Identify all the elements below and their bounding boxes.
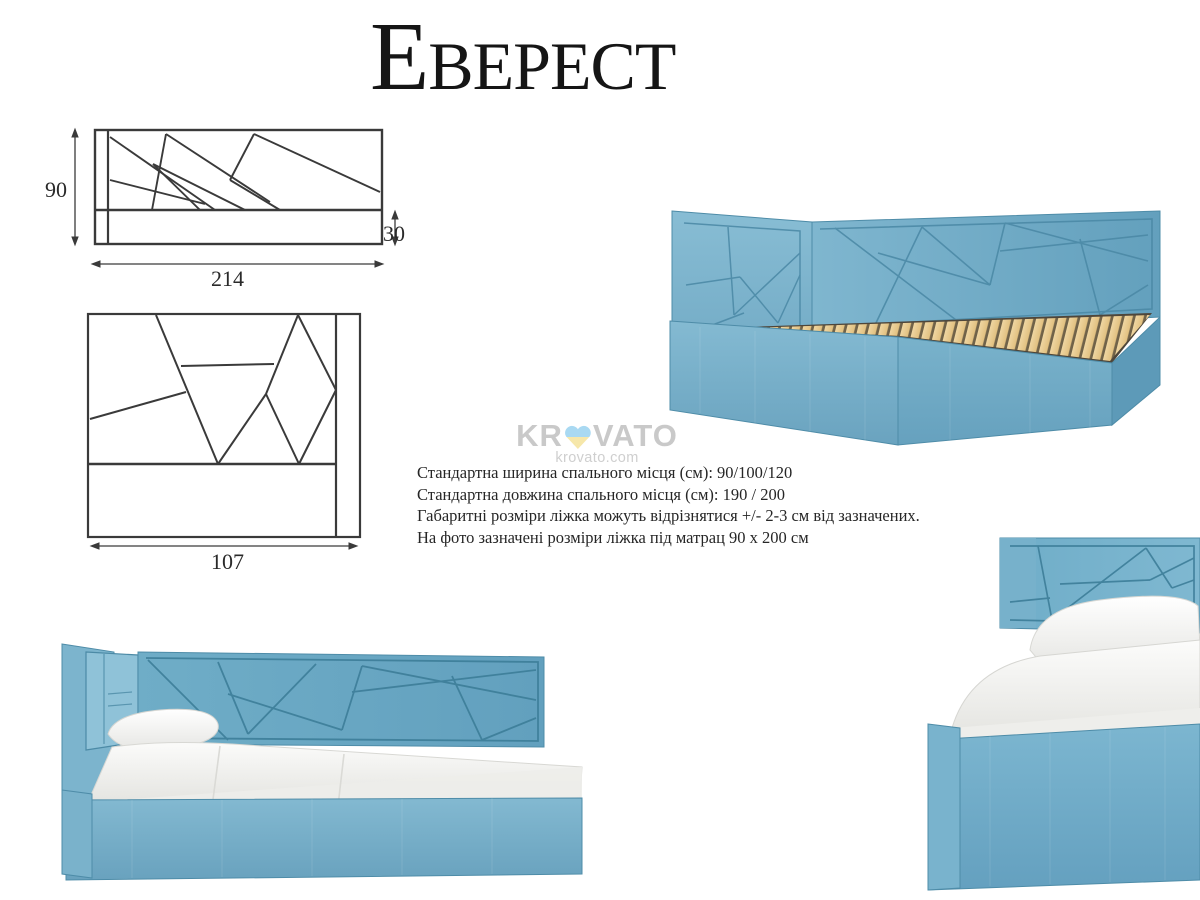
- side-view-height-label: 90: [45, 177, 67, 203]
- watermark-brand-left: KR: [516, 420, 563, 452]
- side-view-length-label: 214: [211, 266, 244, 292]
- bed-photo-closeup-right: [900, 528, 1200, 900]
- front-view-width-label: 107: [211, 549, 244, 575]
- spec-line-photo-size: На фото зазначені розміри ліжка під матр…: [417, 527, 1107, 549]
- spec-line-length: Стандартна довжина спального місця (см):…: [417, 484, 1107, 506]
- side-view-drawing: [40, 122, 430, 282]
- specifications-block: Стандартна ширина спального місця (см): …: [417, 462, 1107, 548]
- bed-photo-made-left: [52, 622, 612, 892]
- front-view-drawing: [78, 306, 388, 556]
- spec-line-tolerance: Габаритні розміри ліжка можуть відрізнят…: [417, 505, 1107, 527]
- side-view-base-label: 30: [383, 221, 405, 247]
- bed-photo-frame-with-slats: [660, 195, 1185, 460]
- page-title: Еверест: [370, 6, 675, 108]
- poster-canvas: Еверест: [0, 0, 1200, 900]
- ukrainian-flag-heart-icon: [565, 425, 591, 449]
- spec-line-width: Стандартна ширина спального місця (см): …: [417, 462, 1107, 484]
